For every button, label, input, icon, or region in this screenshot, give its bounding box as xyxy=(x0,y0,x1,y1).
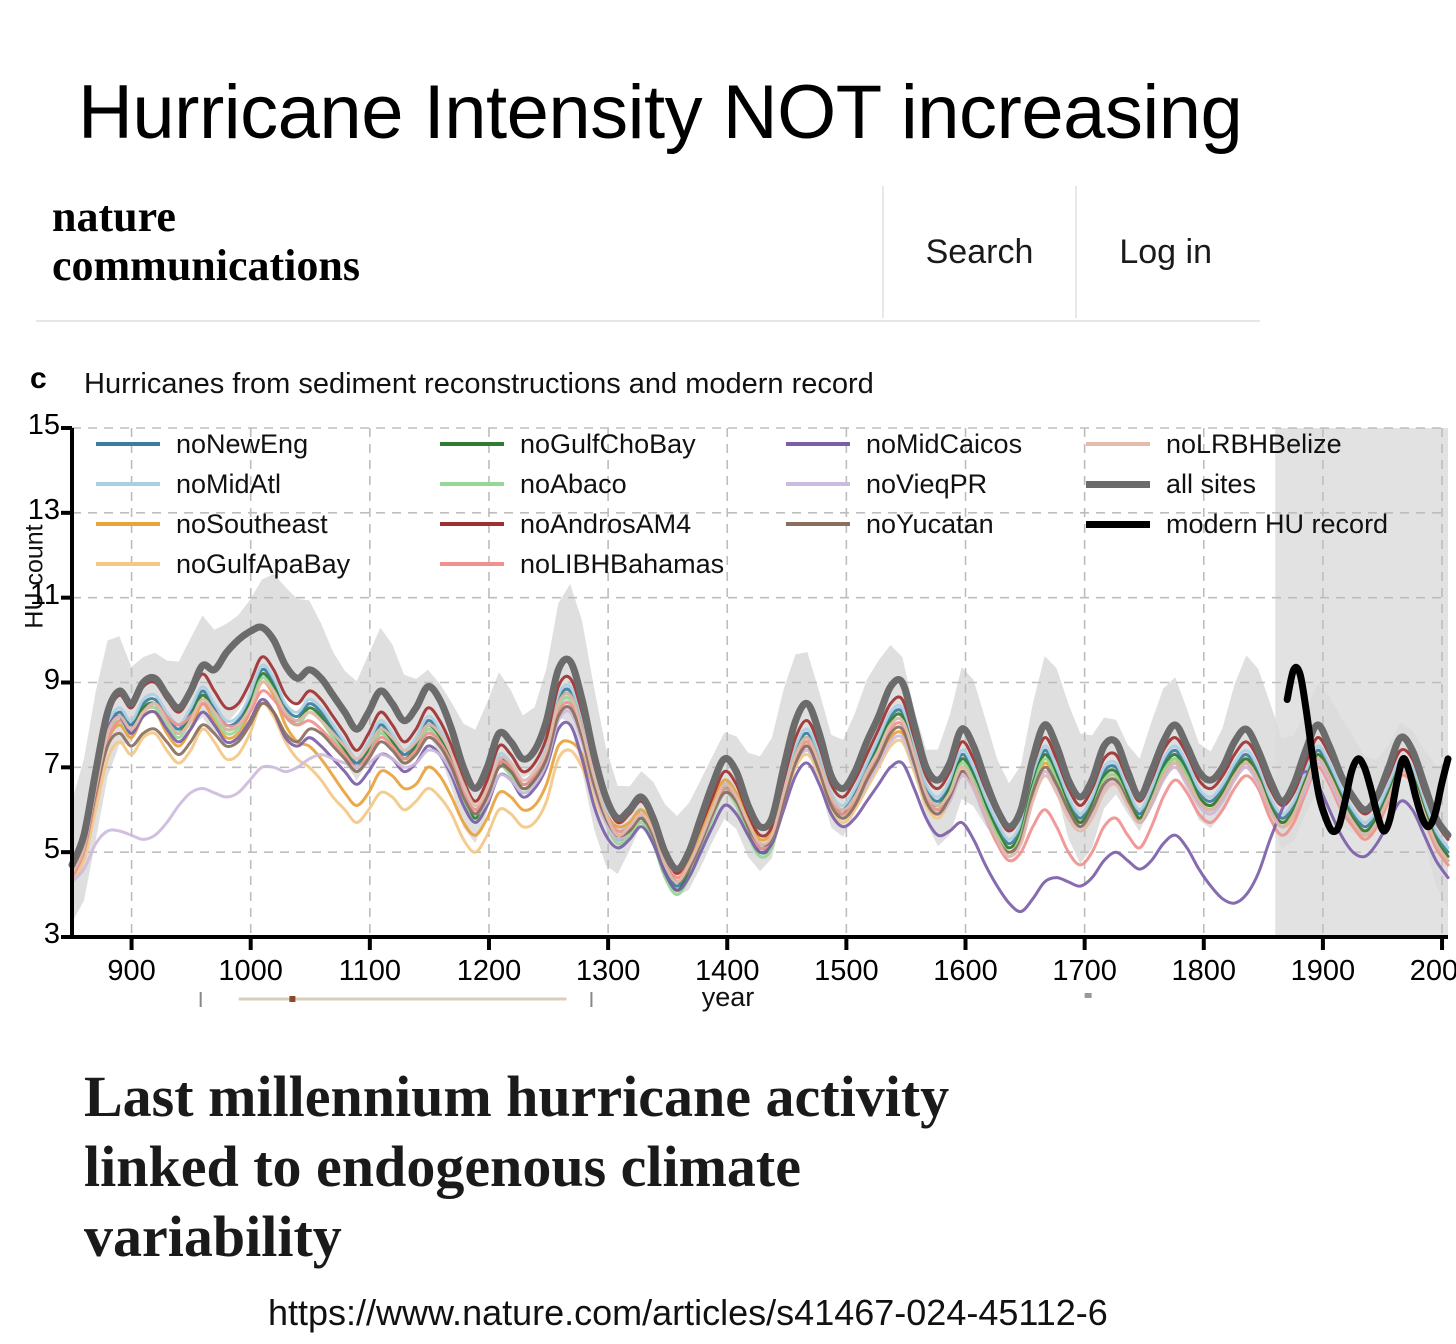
x-tick-1600: 1600 xyxy=(906,955,1026,988)
legend-row-2: noMidAtl noAbaco noVieqPR all sites xyxy=(96,464,1436,504)
legend-item-noGulfApaBay[interactable]: noGulfApaBay xyxy=(96,544,440,584)
legend-swatch-noVieqPR xyxy=(786,482,850,486)
legend-item-noYucatan[interactable]: noYucatan xyxy=(786,504,1086,544)
legend-item-noAndrosAM4[interactable]: noAndrosAM4 xyxy=(440,504,786,544)
article-url[interactable]: https://www.nature.com/articles/s41467-0… xyxy=(268,1292,1108,1334)
article-headline-line-1: Last millennium hurricane activity xyxy=(84,1064,949,1129)
legend-swatch-noAbaco xyxy=(440,482,504,486)
x-tick-1200: 1200 xyxy=(429,955,549,988)
x-tick-1500: 1500 xyxy=(786,955,906,988)
x-tick-1400: 1400 xyxy=(667,955,787,988)
legend-swatch-modern-hu-record xyxy=(1086,521,1150,528)
legend-row-1: noNewEng noGulfChoBay noMidCaicos noLRBH… xyxy=(96,424,1436,464)
y-tick-13: 13 xyxy=(0,494,60,527)
x-tick-1900: 1900 xyxy=(1263,955,1383,988)
legend-swatch-noMidCaicos xyxy=(786,442,850,446)
meme-top-caption: Hurricane Intensity NOT increasing xyxy=(78,72,1456,154)
y-tick-15: 15 xyxy=(0,409,60,442)
x-tick-2000: 2000 xyxy=(1382,955,1456,988)
brand-line-nature: nature xyxy=(52,192,360,241)
brand-line-communications: communications xyxy=(52,241,360,290)
x-tick-1300: 1300 xyxy=(548,955,668,988)
legend-item-all-sites[interactable]: all sites xyxy=(1086,464,1416,504)
legend-item-modern-hu-record[interactable]: modern HU record xyxy=(1086,504,1416,544)
legend-item-noMidAtl[interactable]: noMidAtl xyxy=(96,464,440,504)
header-nav: Search Log in xyxy=(882,186,1260,318)
legend-swatch-noSoutheast xyxy=(96,522,160,526)
legend-label-modern-hu-record: modern HU record xyxy=(1166,509,1388,540)
legend-row-4: noGulfApaBay noLIBHBahamas xyxy=(96,544,1436,584)
legend-row-3: noSoutheast noAndrosAM4 noYucatan modern… xyxy=(96,504,1436,544)
legend-label-noLIBHBahamas: noLIBHBahamas xyxy=(520,549,724,580)
nature-communications-logo[interactable]: nature communications xyxy=(52,192,360,290)
legend-item-noLIBHBahamas[interactable]: noLIBHBahamas xyxy=(440,544,786,584)
legend-swatch-noLRBHBelize xyxy=(1086,442,1150,446)
legend-swatch-all-sites xyxy=(1086,481,1150,488)
y-tick-11: 11 xyxy=(0,579,60,612)
x-tick-900: 900 xyxy=(72,955,192,988)
legend-swatch-noLIBHBahamas xyxy=(440,562,504,566)
legend-item-noLRBHBelize[interactable]: noLRBHBelize xyxy=(1086,424,1416,464)
y-tick-9: 9 xyxy=(0,664,60,697)
legend-item-noVieqPR[interactable]: noVieqPR xyxy=(786,464,1086,504)
legend-item-noSoutheast[interactable]: noSoutheast xyxy=(96,504,440,544)
legend-label-noVieqPR: noVieqPR xyxy=(866,469,987,500)
legend-label-noMidAtl: noMidAtl xyxy=(176,469,281,500)
article-headline-line-3: variability xyxy=(84,1204,342,1269)
search-button[interactable]: Search xyxy=(882,186,1076,318)
x-tick-1100: 1100 xyxy=(310,955,430,988)
chart-legend: noNewEng noGulfChoBay noMidCaicos noLRBH… xyxy=(96,424,1436,584)
nature-site-header: nature communications Search Log in xyxy=(36,186,1260,322)
legend-label-noAndrosAM4: noAndrosAM4 xyxy=(520,509,691,540)
legend-swatch-noGulfApaBay xyxy=(96,562,160,566)
x-tick-1700: 1700 xyxy=(1025,955,1145,988)
legend-label-noYucatan: noYucatan xyxy=(866,509,994,540)
x-tick-1000: 1000 xyxy=(191,955,311,988)
legend-swatch-noNewEng xyxy=(96,442,160,446)
legend-label-all-sites: all sites xyxy=(1166,469,1256,500)
legend-label-noAbaco: noAbaco xyxy=(520,469,627,500)
legend-label-noNewEng: noNewEng xyxy=(176,429,308,460)
x-tick-1800: 1800 xyxy=(1144,955,1264,988)
legend-label-noGulfChoBay: noGulfChoBay xyxy=(520,429,696,460)
legend-label-noGulfApaBay: noGulfApaBay xyxy=(176,549,350,580)
y-tick-5: 5 xyxy=(0,833,60,866)
y-tick-3: 3 xyxy=(0,918,60,951)
legend-swatch-noAndrosAM4 xyxy=(440,522,504,526)
legend-item-noAbaco[interactable]: noAbaco xyxy=(440,464,786,504)
figure-panel-c: c Hurricanes from sediment reconstructio… xyxy=(0,352,1456,1042)
legend-swatch-noMidAtl xyxy=(96,482,160,486)
legend-swatch-noYucatan xyxy=(786,522,850,526)
login-button[interactable]: Log in xyxy=(1075,186,1260,318)
legend-item-noMidCaicos[interactable]: noMidCaicos xyxy=(786,424,1086,464)
legend-item-noNewEng[interactable]: noNewEng xyxy=(96,424,440,464)
y-tick-7: 7 xyxy=(0,748,60,781)
legend-label-noMidCaicos: noMidCaicos xyxy=(866,429,1022,460)
legend-label-noLRBHBelize: noLRBHBelize xyxy=(1166,429,1342,460)
article-headline[interactable]: Last millennium hurricane activity linke… xyxy=(84,1062,1264,1272)
legend-item-noGulfChoBay[interactable]: noGulfChoBay xyxy=(440,424,786,464)
legend-label-noSoutheast: noSoutheast xyxy=(176,509,328,540)
legend-swatch-noGulfChoBay xyxy=(440,442,504,446)
article-headline-line-2: linked to endogenous climate xyxy=(84,1134,801,1199)
